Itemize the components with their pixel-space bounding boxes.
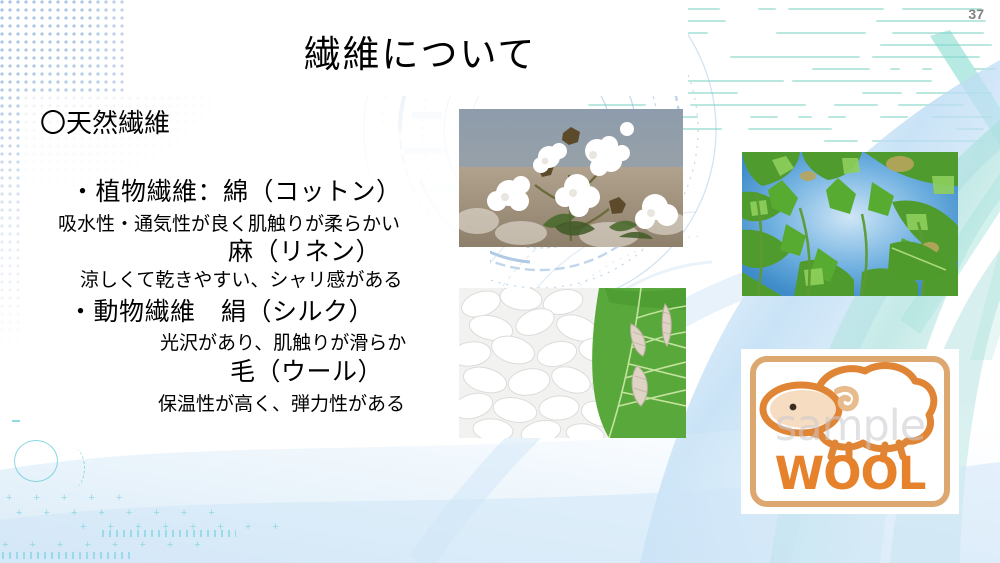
item-label-linen: 麻（リネン） (228, 232, 381, 268)
item-description-silk: 光沢があり、肌触りが滑らか (160, 328, 406, 355)
page-number: 37 (968, 6, 984, 22)
cotton-field-photo (459, 109, 683, 247)
slide-canvas: + + + + + + + + + + + + + + + + + + + + … (0, 0, 1000, 563)
wool-logo-card: sample WOOL (741, 349, 959, 514)
cyan-dash-decoration (26, 419, 34, 421)
plus-marks-decoration: + + + + + + + + (16, 507, 224, 519)
plus-marks-decoration: + + + + + + + + (2, 539, 210, 551)
item-description-linen: 涼しくて乾きやすい、シャリ感がある (80, 265, 402, 292)
item-label-cotton: ・植物繊維：綿（コットン） (70, 172, 402, 208)
tick-marks-decoration (102, 530, 236, 537)
item-label-silk: ・動物繊維 絹（シルク） (68, 292, 374, 328)
cyan-dash-decoration (12, 420, 22, 422)
cyan-arc-decoration (62, 448, 85, 488)
wool-wordmark: WOOL (741, 451, 959, 496)
item-description-wool: 保温性が高く、弾力性がある (158, 389, 405, 416)
item-label-wool: 毛（ウール） (230, 352, 383, 388)
section-heading: 〇天然繊維 (40, 103, 170, 140)
cyan-circle-decoration (14, 440, 58, 482)
tick-marks-decoration (2, 552, 132, 559)
page-title: 繊維について (0, 24, 840, 78)
silk-cocoon-photo (459, 288, 686, 438)
sample-watermark: sample (741, 401, 959, 451)
hemp-plant-photo (742, 152, 958, 296)
plus-marks-decoration: + + + + + (6, 492, 131, 504)
